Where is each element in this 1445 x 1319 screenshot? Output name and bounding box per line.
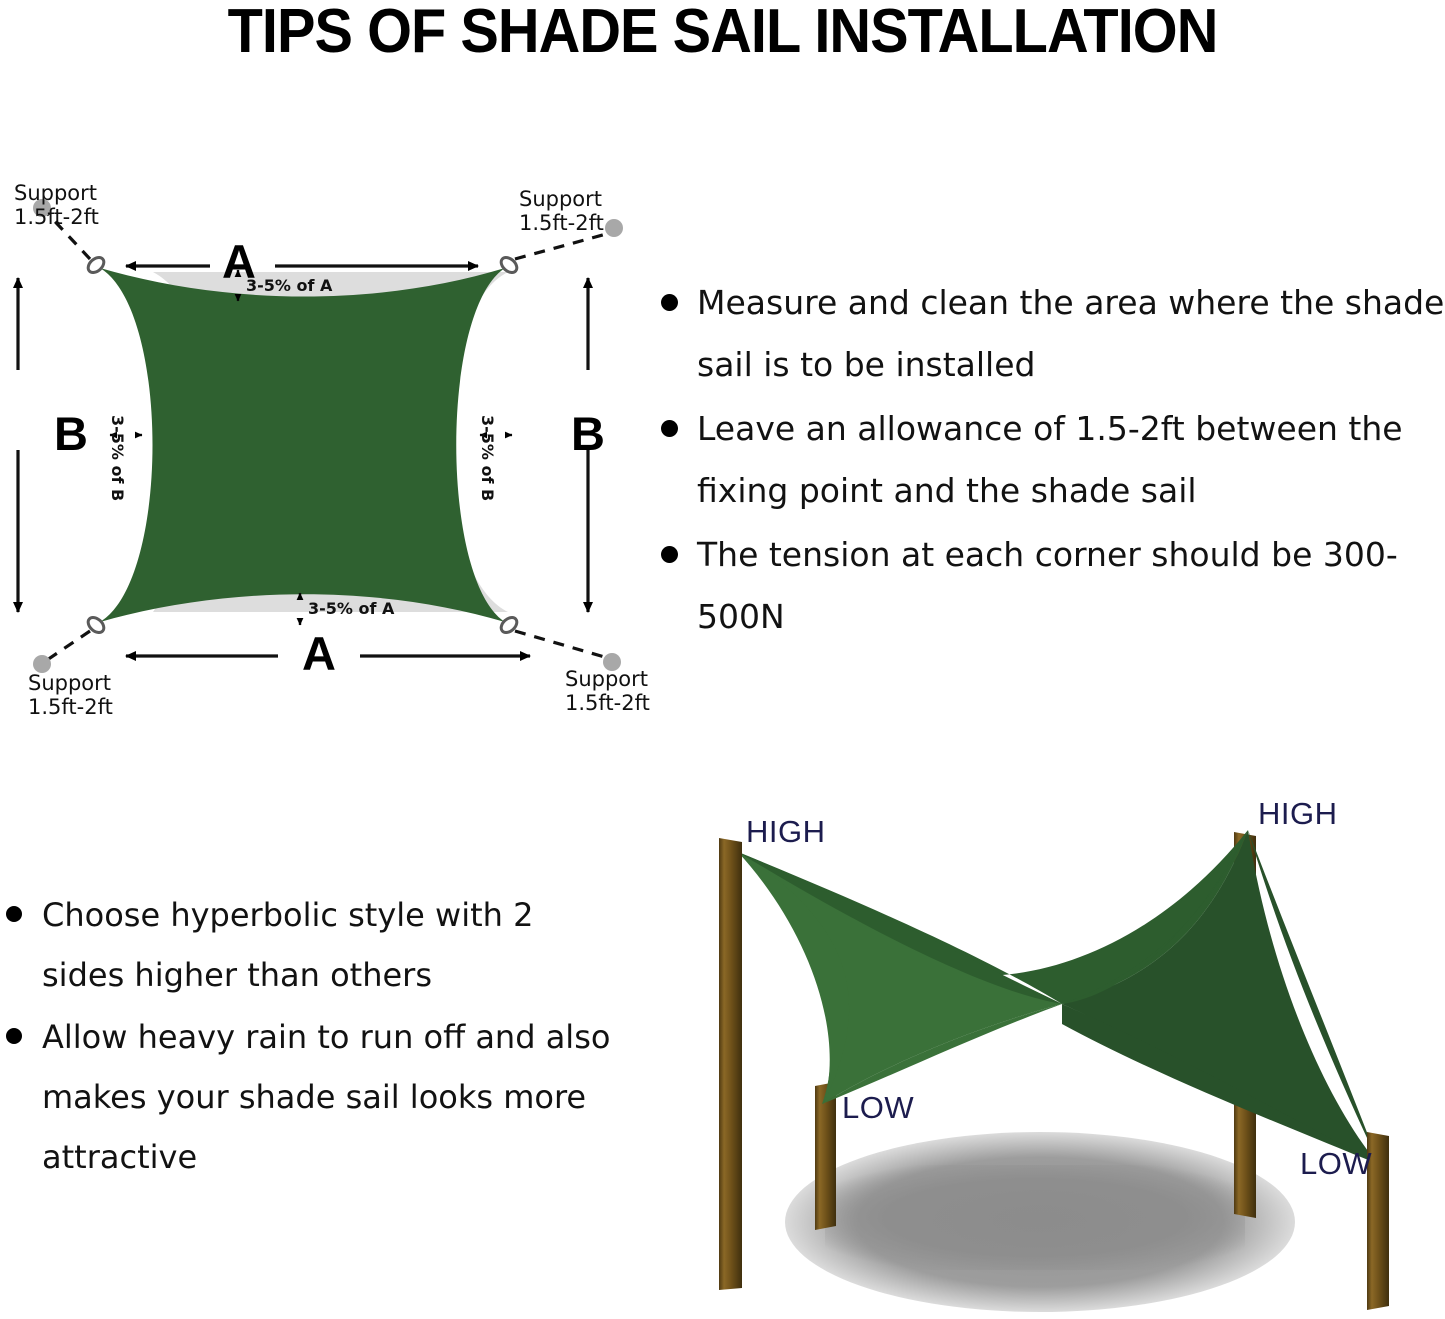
label-low-left: LOW bbox=[842, 1090, 914, 1126]
support-label-top-right: Support 1.5ft-2ft bbox=[519, 188, 604, 235]
hyperbolic-sail-svg bbox=[650, 790, 1445, 1319]
curvature-label-top: 3-5% of A bbox=[246, 277, 332, 295]
post-high-left bbox=[719, 838, 742, 1290]
hyperbolic-style-tips-list: Choose hyperbolic style with 2 sides hig… bbox=[0, 885, 615, 1189]
list-item: Allow heavy rain to run off and also mak… bbox=[0, 1007, 615, 1187]
hyperbolic-sail-diagram: HIGH HIGH LOW LOW bbox=[650, 790, 1445, 1319]
support-label-bottom-right-line1: Support bbox=[565, 667, 648, 691]
support-label-bottom-left: Support 1.5ft-2ft bbox=[28, 672, 113, 719]
support-label-bottom-right-line2: 1.5ft-2ft bbox=[565, 691, 650, 715]
list-item: Choose hyperbolic style with 2 sides hig… bbox=[0, 885, 615, 1005]
dimension-letter-bottom-a: A bbox=[302, 630, 336, 677]
support-label-bottom-right: Support 1.5ft-2ft bbox=[565, 668, 650, 715]
label-high-left: HIGH bbox=[746, 814, 826, 850]
sail-body bbox=[100, 268, 505, 622]
infographic-page: TIPS OF SHADE SAIL INSTALLATION bbox=[0, 0, 1445, 1319]
support-label-bottom-left-line1: Support bbox=[28, 671, 111, 695]
label-high-right: HIGH bbox=[1258, 796, 1338, 832]
list-item: The tension at each corner should be 300… bbox=[655, 524, 1445, 648]
rectangular-sail-diagram: Support 1.5ft-2ft Support 1.5ft-2ft Supp… bbox=[0, 160, 660, 730]
support-label-bottom-left-line2: 1.5ft-2ft bbox=[28, 695, 113, 719]
list-item: Leave an allowance of 1.5-2ft between th… bbox=[655, 398, 1445, 522]
label-low-right: LOW bbox=[1300, 1146, 1372, 1182]
curvature-label-right: 3-5% of B bbox=[478, 415, 496, 501]
list-item: Measure and clean the area where the sha… bbox=[655, 272, 1445, 396]
page-title: TIPS OF SHADE SAIL INSTALLATION bbox=[51, 0, 1395, 67]
support-label-top-left-line2: 1.5ft-2ft bbox=[14, 205, 99, 229]
post-low-left bbox=[815, 1082, 836, 1230]
support-label-top-left: Support 1.5ft-2ft bbox=[14, 182, 99, 229]
dimension-letter-right-b: B bbox=[571, 410, 605, 457]
support-label-top-right-line1: Support bbox=[519, 187, 602, 211]
dimension-letter-left-b: B bbox=[54, 410, 88, 457]
curvature-label-bottom: 3-5% of A bbox=[308, 600, 394, 618]
curvature-label-left: 3-5% of B bbox=[108, 415, 126, 501]
support-label-top-left-line1: Support bbox=[14, 181, 97, 205]
ground-shadow-core bbox=[825, 1165, 1245, 1270]
installation-tips-list: Measure and clean the area where the sha… bbox=[655, 272, 1445, 650]
support-label-top-right-line2: 1.5ft-2ft bbox=[519, 211, 604, 235]
